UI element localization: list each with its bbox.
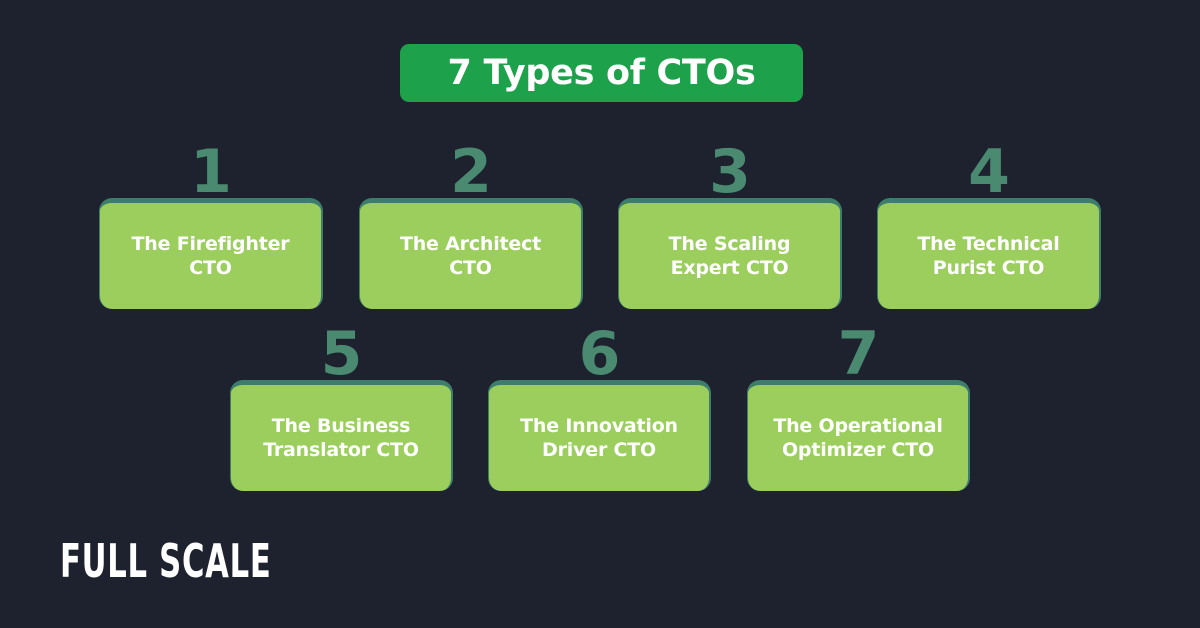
card-the-firefighter-cto[interactable]: The Firefighter CTO — [99, 198, 323, 309]
card-label-line2: CTO — [449, 257, 491, 279]
card-the-architect-cto[interactable]: The Architect CTO — [359, 198, 583, 309]
card-label: The Innovation Driver CTO — [520, 414, 678, 463]
card-the-operational-optimizer-cto[interactable]: The Operational Optimizer CTO — [747, 380, 970, 491]
card-label-line2: Expert CTO — [671, 257, 789, 279]
card-the-business-translator-cto[interactable]: The Business Translator CTO — [230, 380, 453, 491]
card-label-line2: Purist CTO — [933, 257, 1044, 279]
full-scale-logo: FULL SCALE — [60, 538, 272, 584]
card-number-2: 2 — [359, 142, 583, 202]
page-title: 7 Types of CTOs — [448, 56, 756, 91]
card-number-3: 3 — [618, 142, 842, 202]
card-label-line2: Translator CTO — [263, 439, 419, 461]
card-label-line1: The Scaling — [669, 233, 791, 255]
card-label-line1: The Technical — [917, 233, 1059, 255]
card-label-line1: The Operational — [773, 415, 942, 437]
infographic-canvas: 7 Types of CTOs 1 The Firefighter CTO 2 … — [0, 0, 1200, 628]
card-label-line2: CTO — [189, 257, 231, 279]
card-label: The Scaling Expert CTO — [669, 232, 791, 281]
card-label-line1: The Business — [272, 415, 410, 437]
card-number-5: 5 — [230, 324, 453, 384]
card-number-1: 1 — [99, 142, 323, 202]
card-label-line2: Driver CTO — [542, 439, 656, 461]
card-number-6: 6 — [488, 324, 711, 384]
card-label: The Operational Optimizer CTO — [773, 414, 942, 463]
card-the-innovation-driver-cto[interactable]: The Innovation Driver CTO — [488, 380, 711, 491]
card-the-scaling-expert-cto[interactable]: The Scaling Expert CTO — [618, 198, 842, 309]
card-label: The Business Translator CTO — [263, 414, 419, 463]
card-label-line1: The Firefighter — [132, 233, 290, 255]
card-label: The Firefighter CTO — [132, 232, 290, 281]
title-banner: 7 Types of CTOs — [400, 44, 803, 102]
card-label-line2: Optimizer CTO — [782, 439, 934, 461]
card-label: The Architect CTO — [400, 232, 541, 281]
card-number-4: 4 — [877, 142, 1101, 202]
card-number-7: 7 — [747, 324, 970, 384]
card-label: The Technical Purist CTO — [917, 232, 1059, 281]
card-label-line1: The Architect — [400, 233, 541, 255]
card-the-technical-purist-cto[interactable]: The Technical Purist CTO — [877, 198, 1101, 309]
card-label-line1: The Innovation — [520, 415, 678, 437]
